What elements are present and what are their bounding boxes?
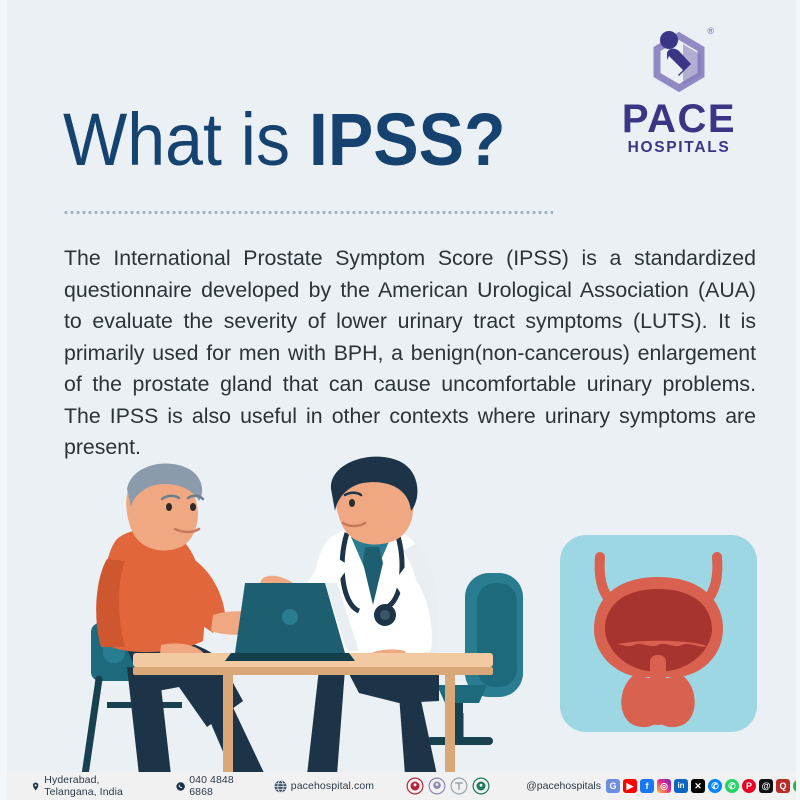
registered-trademark-symbol: ® <box>707 26 714 36</box>
spotify-icon[interactable]: ≋ <box>793 779 800 793</box>
x-twitter-icon[interactable]: ✕ <box>691 779 705 793</box>
instagram-icon[interactable]: ◎ <box>657 779 671 793</box>
poster-canvas: ® PACE HOSPITALS What is IPSS? The Inter… <box>0 0 800 800</box>
footer-website[interactable]: pacehospital.com <box>274 780 374 793</box>
footer-location: Hyderabad, Telangana, India <box>31 774 142 798</box>
dotted-divider <box>63 211 553 214</box>
location-pin-icon <box>31 780 40 793</box>
page-title: What is IPSS? <box>63 103 506 177</box>
whatsapp-icon[interactable]: ✆ <box>725 779 739 793</box>
phone-icon <box>176 780 185 793</box>
social-handle: @pacehospitals <box>526 780 601 792</box>
accreditation-badge-green <box>472 777 490 795</box>
footer-phone[interactable]: 040 4848 6868 <box>176 774 240 798</box>
threads-icon[interactable]: @ <box>759 779 773 793</box>
bladder-prostate-anatomy <box>560 535 757 732</box>
facebook-icon[interactable]: f <box>640 779 654 793</box>
pinterest-icon[interactable]: P <box>742 779 756 793</box>
website-text: pacehospital.com <box>291 780 374 792</box>
phone-text: 040 4848 6868 <box>189 774 240 798</box>
page-title-light: What is <box>63 98 309 181</box>
nabh-badge <box>406 777 424 795</box>
consultation-illustration <box>7 455 800 785</box>
linkedin-icon[interactable]: in <box>674 779 688 793</box>
google-business-icon[interactable]: G <box>606 779 620 793</box>
quora-icon[interactable]: Q <box>776 779 790 793</box>
page-title-bold: IPSS? <box>309 98 506 181</box>
accreditation-badge-purple <box>428 777 446 795</box>
globe-icon <box>274 780 287 793</box>
location-text: Hyderabad, Telangana, India <box>44 774 142 798</box>
messenger-icon[interactable]: ✆ <box>708 779 722 793</box>
youtube-icon[interactable]: ▶ <box>623 779 637 793</box>
social-links: G ▶ f ◎ in ✕ ✆ ✆ P @ Q ≋ <box>606 779 800 793</box>
logo-subtitle: HOSPITALS <box>604 139 754 156</box>
brand-logo: ® PACE HOSPITALS <box>604 24 754 156</box>
accreditation-badges <box>406 777 490 795</box>
logo-wordmark: PACE <box>604 100 754 138</box>
hexagon-person-logo-icon: ® <box>639 24 719 96</box>
accreditation-badge-gray <box>450 777 468 795</box>
footer-bar: Hyderabad, Telangana, India 040 4848 686… <box>7 772 800 800</box>
